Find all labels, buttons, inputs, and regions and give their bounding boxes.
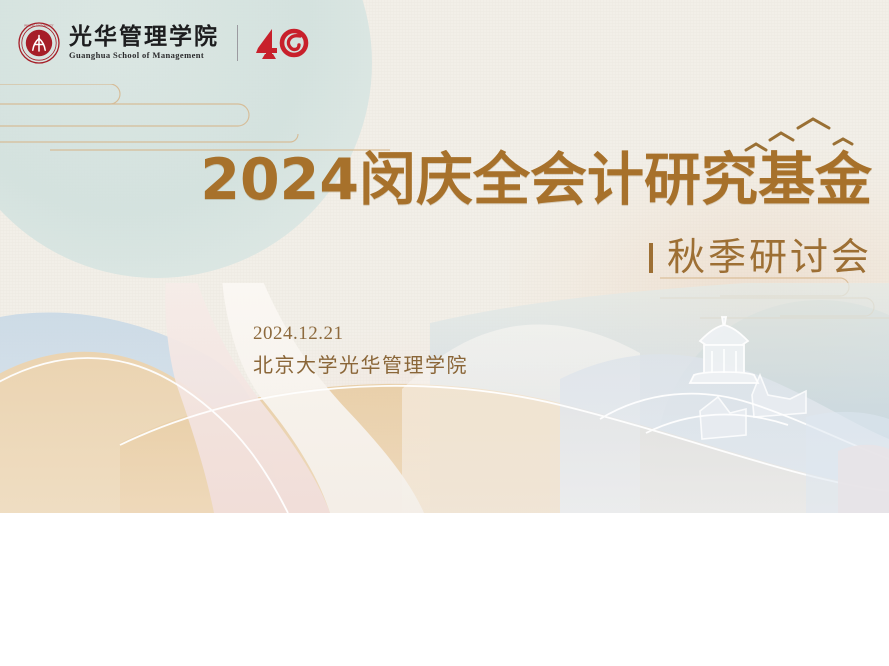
brand-name-en: Guanghua School of Management [69,50,219,61]
event-date: 2024.12.21 [253,320,468,348]
peking-university-seal-icon: PEKING UNIVERSITY [18,22,60,64]
logo-divider [237,25,238,61]
subtitle-text: 秋季研讨会 [667,235,872,279]
page-title: 2024闵庆全会计研究基金 [0,152,872,209]
brand-logo-row: PEKING UNIVERSITY 光华管理学院 Guanghua School… [18,22,310,64]
presentation-slide: PEKING UNIVERSITY 光华管理学院 Guanghua School… [0,0,889,513]
brand-wordmark: 光华管理学院 Guanghua School of Management [69,25,219,61]
cloud-lines-icon [0,84,410,156]
subtitle-accent-bar [649,243,653,273]
slide-subtitle: 秋季研讨会 [0,238,872,276]
svg-text:PEKING UNIVERSITY: PEKING UNIVERSITY [24,24,53,28]
slide-meta-block: 2024.12.21 北京大学光华管理学院 [253,320,468,380]
mountain-range-icon [0,283,889,513]
brand-name-cn: 光华管理学院 [69,25,219,48]
40-anniversary-icon [254,26,310,60]
blank-area-below-slide [0,513,889,666]
event-organization: 北京大学光华管理学院 [253,350,468,380]
